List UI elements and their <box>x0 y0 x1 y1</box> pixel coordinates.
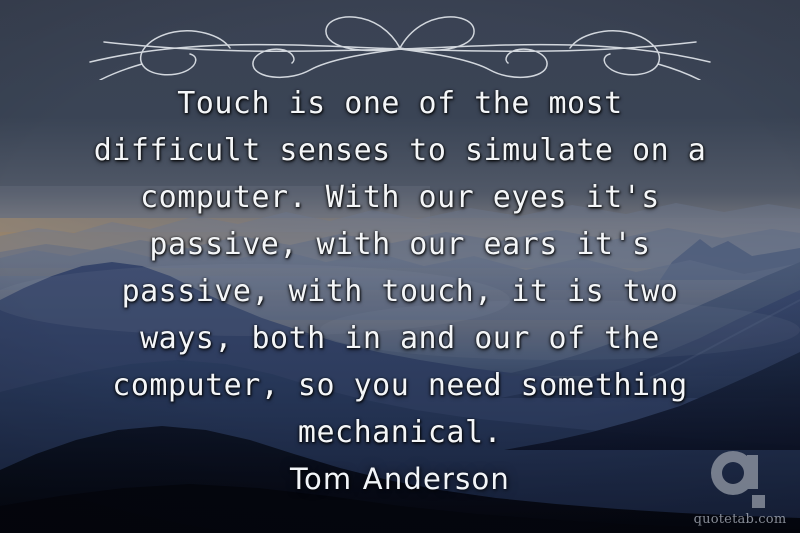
quote-line: computer, so you need something <box>0 362 800 409</box>
quote-line: Touch is one of the most <box>0 80 800 127</box>
watermark[interactable]: quotetab.com <box>688 449 792 527</box>
quote-line: ways, both in and our of the <box>0 315 800 362</box>
calligraphic-flourish-divider-icon <box>78 2 722 80</box>
quote-line: computer. With our eyes it's <box>0 174 800 221</box>
quote-line: passive, with touch, it is two <box>0 268 800 315</box>
quotetab-q-logo-icon <box>688 449 792 511</box>
quote-text: Touch is one of the most difficult sense… <box>0 80 800 456</box>
quote-line: mechanical. <box>0 409 800 456</box>
quote-line: passive, with our ears it's <box>0 221 800 268</box>
watermark-site-text: quotetab.com <box>688 512 792 527</box>
quote-line: difficult senses to simulate on a <box>0 127 800 174</box>
author-name: Tom Anderson <box>290 462 510 496</box>
quote-card: Touch is one of the most difficult sense… <box>0 0 800 533</box>
quote-author: Tom Anderson <box>0 462 800 496</box>
